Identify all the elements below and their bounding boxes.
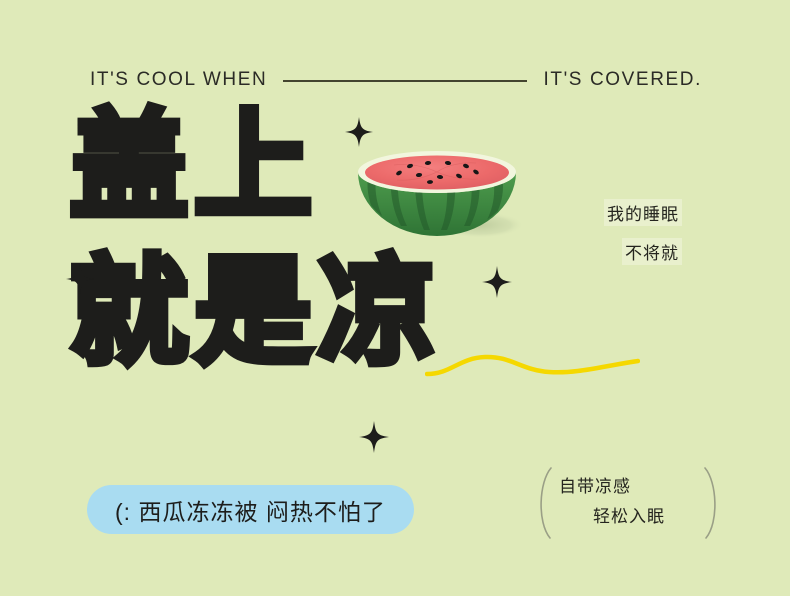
header-divider-rule [283,80,527,82]
sparkle-top-icon [345,117,373,152]
header-left-text: IT'S COOL WHEN [90,69,267,91]
right-paren-icon [701,466,723,540]
sparkle-right-icon [482,266,512,303]
product-tagline-text: (: 西瓜冻冻被 闷热不怕了 [115,493,386,527]
side-text-block: 我的睡眠 不将就 [552,199,682,265]
yellow-wave-decoration [425,344,640,385]
side-text-line-1: 我的睡眠 [604,199,682,226]
bracketed-tagline: 自带凉感 轻松入眠 [533,466,723,540]
headline-line-2: 就是凉 [70,254,442,372]
tagline-line-1: 自带凉感 [559,472,699,502]
tagline-line-2: 轻松入眠 [559,502,699,532]
tagline-lines: 自带凉感 轻松入眠 [559,472,699,532]
side-text-line-2: 不将就 [622,238,682,265]
headline-block: 盖上 就是凉 [70,108,442,372]
left-paren-icon [533,466,555,540]
header-eyebrow: IT'S COOL WHEN IT'S COVERED. [90,66,702,94]
product-tagline-pill[interactable]: (: 西瓜冻冻被 闷热不怕了 [87,485,414,534]
sparkle-left-icon [66,264,94,299]
yellow-wave-svg [425,344,640,380]
poster-canvas: IT'S COOL WHEN IT'S COVERED. [0,0,790,596]
sparkle-bottom-icon [359,421,389,458]
header-right-text: IT'S COVERED. [543,69,702,91]
headline-line-1: 盖上 [70,108,442,226]
